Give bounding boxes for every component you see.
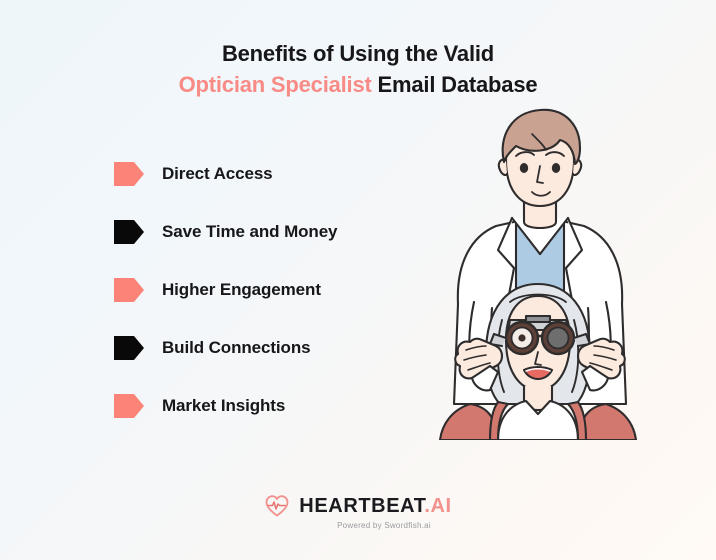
list-item: Save Time and Money bbox=[112, 203, 442, 261]
flag-marker-icon bbox=[112, 273, 146, 307]
benefit-label: Market Insights bbox=[162, 396, 285, 416]
list-item: Market Insights bbox=[112, 377, 442, 435]
flag-marker-icon bbox=[112, 389, 146, 423]
brand-name: HEARTBEAT bbox=[299, 495, 424, 517]
benefit-label: Build Connections bbox=[162, 338, 310, 358]
powered-by-tagline: Powered by Swordfish.ai bbox=[337, 521, 431, 530]
footer-branding: HEARTBEAT.AI Powered by Swordfish.ai bbox=[0, 494, 716, 530]
benefit-label: Save Time and Money bbox=[162, 222, 337, 242]
benefit-label: Direct Access bbox=[162, 164, 273, 184]
title-line-2: Optician Specialist Email Database bbox=[0, 69, 716, 100]
brand-wordmark: HEARTBEAT.AI bbox=[299, 495, 451, 517]
title-line-1: Benefits of Using the Valid bbox=[0, 38, 716, 69]
brand-suffix: .AI bbox=[424, 495, 451, 517]
heartbeat-logo: HEARTBEAT.AI bbox=[264, 494, 451, 518]
flag-marker-icon bbox=[112, 157, 146, 191]
benefit-label: Higher Engagement bbox=[162, 280, 321, 300]
title-accent-text: Optician Specialist bbox=[179, 72, 372, 97]
list-item: Direct Access bbox=[112, 145, 442, 203]
list-item: Build Connections bbox=[112, 319, 442, 377]
page-title: Benefits of Using the Valid Optician Spe… bbox=[0, 38, 716, 100]
title-rest-text: Email Database bbox=[372, 72, 538, 97]
optician-examining-patient-illustration bbox=[412, 104, 664, 440]
flag-marker-icon bbox=[112, 215, 146, 249]
benefits-list: Direct Access Save Time and Money Higher… bbox=[112, 145, 442, 435]
flag-marker-icon bbox=[112, 331, 146, 365]
heartbeat-heart-icon bbox=[264, 494, 290, 518]
list-item: Higher Engagement bbox=[112, 261, 442, 319]
infographic-canvas: Benefits of Using the Valid Optician Spe… bbox=[0, 0, 716, 560]
